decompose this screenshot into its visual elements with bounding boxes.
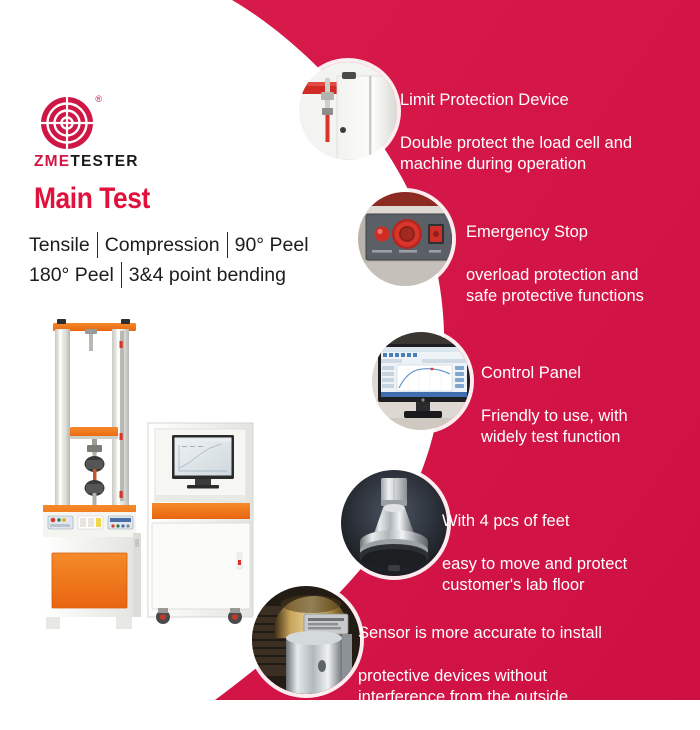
feature-heading: Limit Protection Device bbox=[400, 90, 692, 112]
feature-body: Friendly to use, with widely test functi… bbox=[481, 406, 699, 449]
feature-heading: Control Panel bbox=[481, 363, 699, 385]
feature-thumb-sensor bbox=[252, 586, 360, 694]
test-type-item: Tensile bbox=[22, 230, 97, 260]
wordmark-tester: TESTER bbox=[70, 153, 138, 170]
target-circles-icon: ® bbox=[40, 96, 94, 150]
feature-heading: Emergency Stop bbox=[466, 222, 696, 244]
test-type-row: 180° Peel 3&4 point bending bbox=[22, 260, 342, 290]
test-type-item: 90° Peel bbox=[228, 230, 316, 260]
test-type-list: Tensile Compression 90° Peel 180° Peel 3… bbox=[22, 230, 342, 290]
feature-body: easy to move and protect customer's lab … bbox=[442, 554, 694, 597]
feature-thumb-control-panel bbox=[372, 332, 470, 430]
wordmark-zme: ZME bbox=[34, 153, 70, 170]
feature-body: Double protect the load cell and machine… bbox=[400, 133, 692, 176]
feature-heading: With 4 pcs of feet bbox=[442, 511, 694, 533]
feature-thumb-machine-feet bbox=[341, 470, 447, 576]
test-type-item: 3&4 point bending bbox=[122, 260, 293, 290]
feature-body: overload protection and safe protective … bbox=[466, 265, 696, 308]
feature-body: protective devices without interference … bbox=[358, 666, 698, 709]
registered-trademark-icon: ® bbox=[95, 94, 102, 104]
test-type-item: 180° Peel bbox=[22, 260, 121, 290]
feature-thumb-emergency-stop bbox=[358, 192, 452, 286]
feature-heading: Sensor is more accurate to install bbox=[358, 623, 698, 645]
brand-wordmark: ZMETESTER bbox=[34, 153, 214, 171]
test-type-item: Compression bbox=[98, 230, 227, 260]
feature-text-machine-feet: With 4 pcs of feet easy to move and prot… bbox=[442, 489, 694, 618]
feature-text-emergency-stop: Emergency Stop overload protection and s… bbox=[466, 200, 696, 329]
brand-logo: ® ZMETESTER bbox=[34, 96, 214, 171]
feature-text-limit-protection: Limit Protection Device Double protect t… bbox=[400, 68, 692, 197]
universal-testing-machine-illustration bbox=[24, 305, 274, 660]
page-title: Main Test bbox=[34, 182, 150, 216]
test-type-row: Tensile Compression 90° Peel bbox=[22, 230, 342, 260]
feature-text-control-panel: Control Panel Friendly to use, with wide… bbox=[481, 341, 699, 470]
poster-canvas: ® ZMETESTER Main Test Tensile Compressio… bbox=[0, 0, 700, 700]
feature-thumb-limit-protection bbox=[299, 62, 397, 160]
feature-text-sensor: Sensor is more accurate to install prote… bbox=[358, 601, 698, 730]
